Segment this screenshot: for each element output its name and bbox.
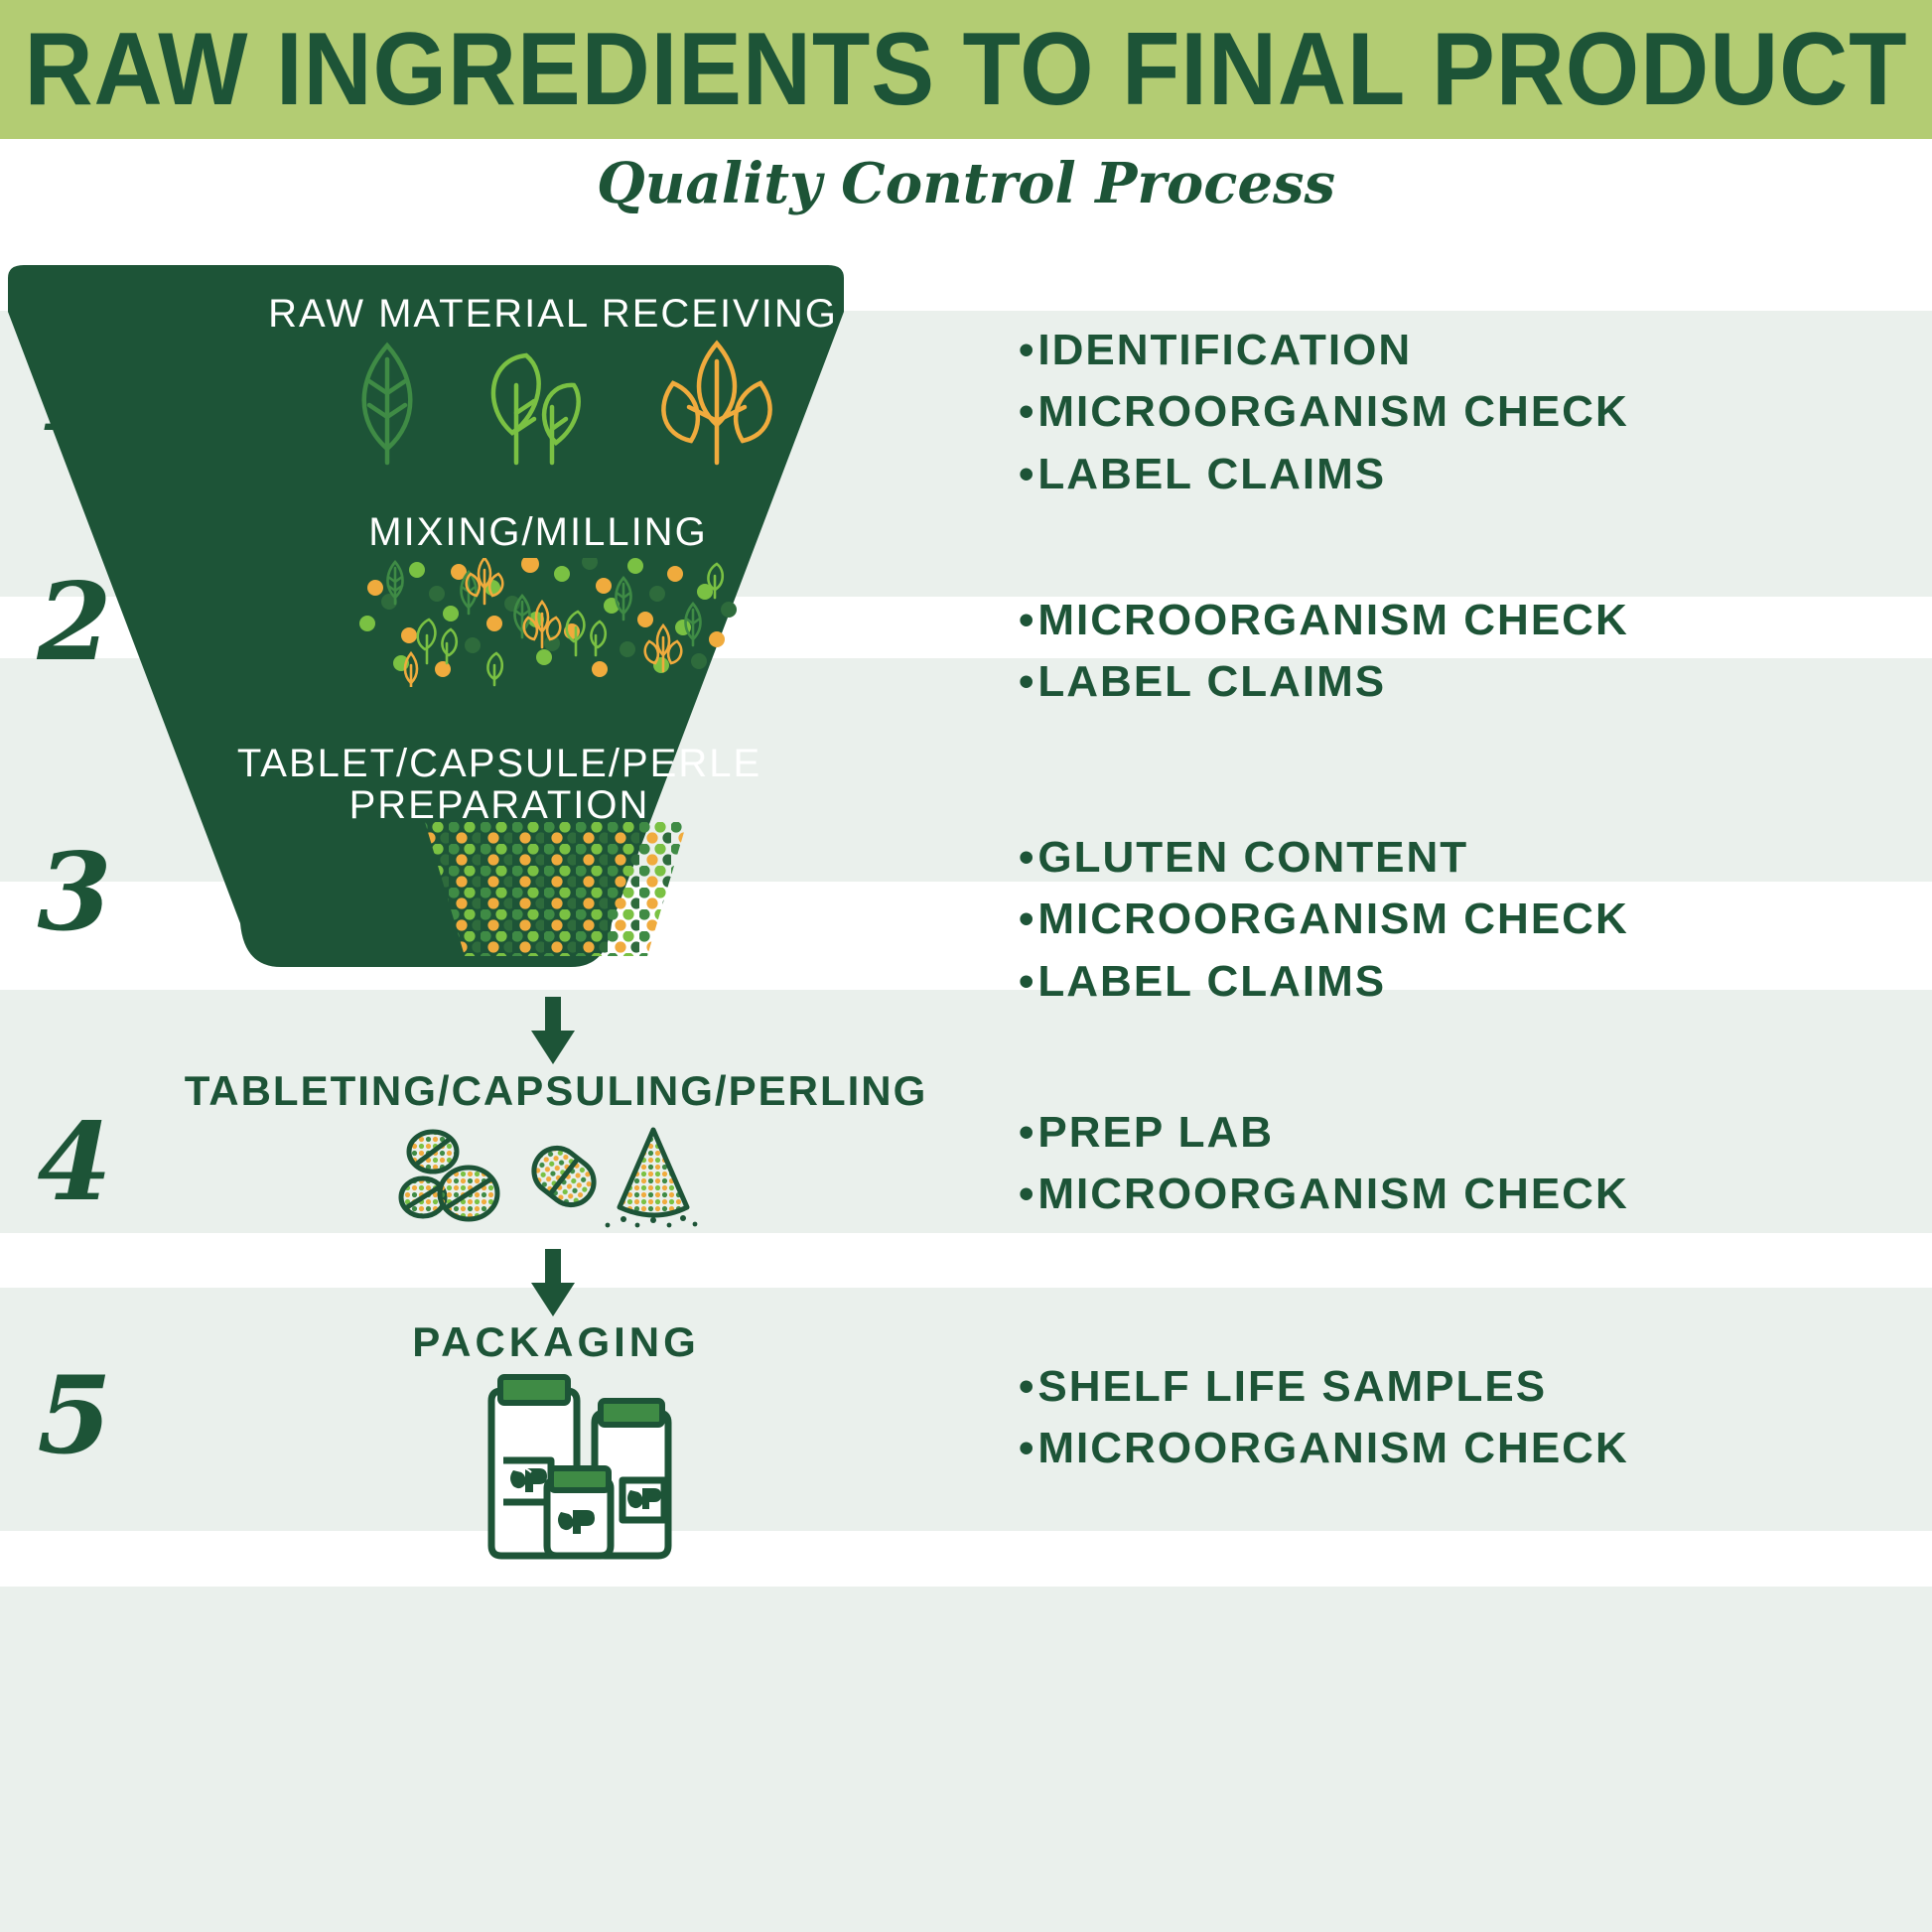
bottles-icons-group [452,1365,700,1564]
stage-label-mixing-milling: MIXING/MILLING [127,511,949,553]
tablet-icon [409,1132,457,1172]
bullet-dot-icon: • [1019,1424,1035,1472]
qc-check-label: GLUTEN CONTENT [1037,833,1468,882]
step-number-4: 4 [0,1109,149,1216]
qc-check-item: •MICROORGANISM CHECK [1019,1418,1912,1479]
qc-check-item: •MICROORGANISM CHECK [1019,590,1912,651]
qc-check-item: •GLUTEN CONTENT [1019,827,1912,889]
dot-matrix-fill [417,822,695,956]
page-title: RAW INGREDIENTS TO FINAL PRODUCT [24,18,1907,121]
bullet-dot-icon: • [1019,450,1035,498]
bullet-dot-icon: • [1019,895,1035,943]
step-number-5: 5 [0,1362,149,1469]
qc-checks-step-3: •GLUTEN CONTENT •MICROORGANISM CHECK •LA… [1019,827,1912,1013]
qc-check-item: •MICROORGANISM CHECK [1019,381,1912,443]
qc-check-label: PREP LAB [1037,1108,1274,1157]
qc-check-label: LABEL CLAIMS [1037,450,1386,498]
stage-label-tableting-capsuling-perling: TABLETING/CAPSULING/PERLING [149,1069,963,1113]
qc-check-item: •LABEL CLAIMS [1019,951,1912,1013]
qc-check-item: •MICROORGANISM CHECK [1019,889,1912,950]
page-subtitle: Quality Control Process [0,151,1932,216]
qc-check-label: MICROORGANISM CHECK [1037,1170,1628,1218]
qc-checks-step-4: •PREP LAB •MICROORGANISM CHECK [1019,1102,1912,1226]
plant-icons-group [328,338,804,467]
down-arrow-to-tableting-icon [523,997,583,1066]
bullet-dot-icon: • [1019,596,1035,644]
qc-checks-step-2: •MICROORGANISM CHECK •LABEL CLAIMS [1019,590,1912,714]
pills-icons-group [397,1122,715,1231]
row-band-step-5 [0,1587,1932,1932]
qc-check-label: MICROORGANISM CHECK [1037,895,1628,943]
qc-check-label: IDENTIFICATION [1037,326,1412,374]
bullet-dot-icon: • [1019,326,1035,374]
bullet-dot-icon: • [1019,387,1035,436]
leaf-icon [364,345,411,463]
perle-icon [620,1130,687,1215]
scattered-leaves-icon [347,558,745,687]
qc-check-item: •SHELF LIFE SAMPLES [1019,1356,1912,1418]
dot-matrix-icon [417,822,695,956]
bullet-dot-icon: • [1019,957,1035,1006]
qc-check-label: MICROORGANISM CHECK [1037,596,1628,644]
header-banner: RAW INGREDIENTS TO FINAL PRODUCT [0,0,1932,139]
bullet-dot-icon: • [1019,1362,1035,1411]
wheat-leaf-icon [663,344,769,463]
sprout-icon [493,355,579,463]
qc-check-item: •IDENTIFICATION [1019,320,1912,381]
qc-checks-step-1: •IDENTIFICATION •MICROORGANISM CHECK •LA… [1019,320,1912,505]
down-arrow-to-packaging-icon [523,1249,583,1318]
bullet-dot-icon: • [1019,833,1035,882]
stage-label-line-1: TABLET/CAPSULE/PERLE [127,743,872,784]
bullet-dot-icon: • [1019,657,1035,706]
qc-check-label: MICROORGANISM CHECK [1037,1424,1628,1472]
bullet-dot-icon: • [1019,1170,1035,1218]
qc-check-item: •PREP LAB [1019,1102,1912,1164]
bullet-dot-icon: • [1019,1108,1035,1157]
stage-label-tablet-capsule-perle-preparation: TABLET/CAPSULE/PERLE PREPARATION [127,743,872,827]
qc-check-label: MICROORGANISM CHECK [1037,387,1628,436]
qc-check-item: •LABEL CLAIMS [1019,444,1912,505]
capsule-icon [525,1139,604,1214]
stage-label-packaging: PACKAGING [298,1320,814,1364]
supplement-bottle-small-icon [547,1468,611,1556]
qc-check-item: •LABEL CLAIMS [1019,651,1912,713]
qc-check-item: •MICROORGANISM CHECK [1019,1164,1912,1225]
qc-check-label: SHELF LIFE SAMPLES [1037,1362,1547,1411]
stage-label-raw-material-receiving: RAW MATERIAL RECEIVING [127,293,979,335]
tablet-icon-3 [440,1168,497,1219]
qc-checks-step-5: •SHELF LIFE SAMPLES •MICROORGANISM CHECK [1019,1356,1912,1480]
qc-check-label: LABEL CLAIMS [1037,657,1386,706]
stage-label-line-2: PREPARATION [127,784,872,826]
qc-check-label: LABEL CLAIMS [1037,957,1386,1006]
